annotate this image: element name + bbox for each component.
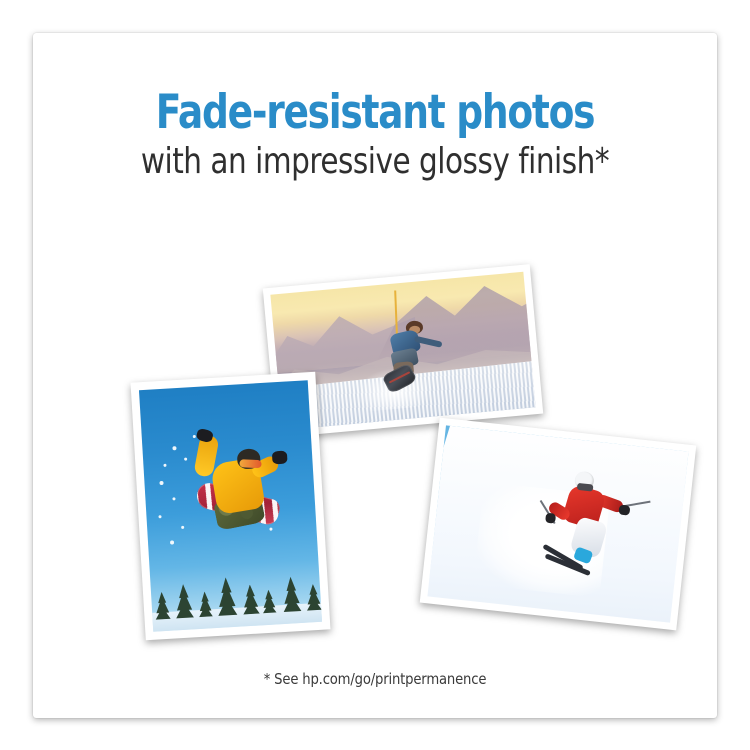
photo-snowboard — [131, 372, 331, 641]
page-subtitle: with an impressive glossy finish* — [95, 141, 656, 182]
snow-flake-shape — [173, 446, 177, 450]
snowboarder-figure — [179, 435, 290, 543]
snowboarder-goggles-shape — [239, 459, 261, 468]
skier-figure — [548, 469, 637, 583]
photo-snowboard-image — [139, 380, 322, 632]
footnote-text: * See hp.com/go/printpermanence — [74, 670, 676, 688]
photo-ski — [420, 418, 697, 631]
snow-flake-shape — [164, 464, 167, 467]
snow-flake-shape — [192, 435, 195, 438]
skier-glove-right-shape — [618, 504, 630, 516]
pine-tree-line — [143, 568, 322, 632]
snow-flake-shape — [160, 481, 164, 485]
photo-ski-image — [427, 425, 688, 622]
page-title: Fade-resistant photos — [101, 85, 648, 140]
snow-flake-shape — [170, 541, 174, 545]
snow-flake-shape — [172, 497, 175, 500]
wakeboarder-figure — [375, 318, 447, 389]
snow-flake-shape — [158, 515, 161, 518]
poster-canvas: Fade-resistant photos with an impressive… — [0, 0, 750, 750]
snowboarder-glove-right-shape — [272, 451, 287, 464]
white-card: Fade-resistant photos with an impressive… — [33, 33, 717, 718]
